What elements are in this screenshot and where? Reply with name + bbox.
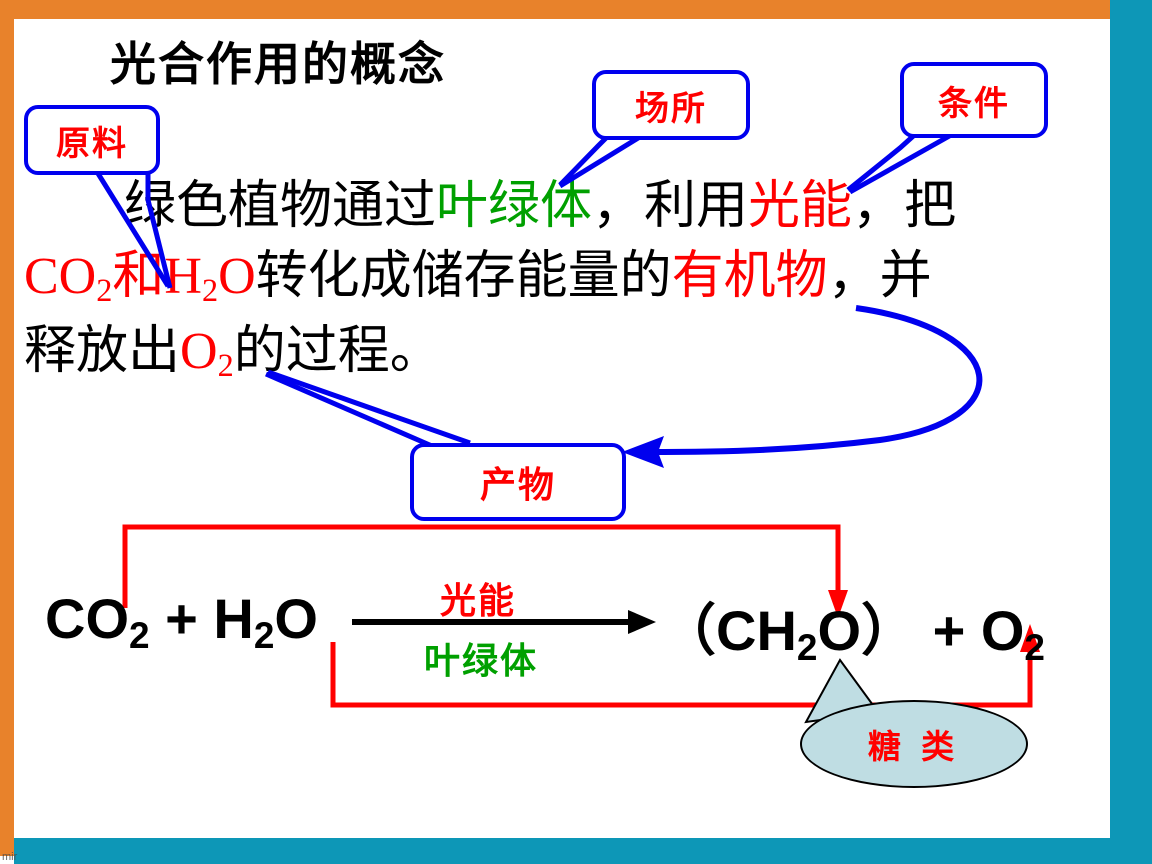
callout-sugars-label: 糖 类 [868,720,960,768]
arrowhead-organic-to-product [622,436,664,468]
para-h2o-red: H2O [164,248,255,305]
para-line1-plain-c: ，把 [852,178,956,235]
frame-border-left [0,0,14,856]
callout-location-label: 场所 [635,81,707,130]
para-co2-red: CO2 [24,248,112,305]
para-line2-he: 和 [112,248,164,305]
equation-ch2o: （CH2O） + O2 [660,599,1045,662]
equation-reactants: CO2 + H2O [45,586,318,651]
para-line2-plain-b: 转化成储存能量的 [256,248,672,305]
callout-raw-material[interactable]: 原料 [24,105,160,175]
equation-h2o: H2O [213,587,318,650]
equation-products: （CH2O） + O2 [660,586,1045,667]
callout-condition[interactable]: 条件 [900,62,1048,138]
para-light-energy-red: 光能 [748,178,852,235]
equation-co2: CO2 [45,587,150,650]
slide-title: 光合作用的概念 [110,28,446,94]
callout-location[interactable]: 场所 [592,70,750,140]
para-o2-red: O2 [180,323,234,380]
para-line3-plain-b: 的过程。 [234,323,442,380]
para-chloroplast-green: 叶绿体 [436,178,592,235]
callout-product-label: 产物 [480,456,556,508]
concept-paragraph: 绿色植物通过叶绿体，利用光能，把CO2和H2O转化成储存能量的有机物，并释放出O… [24,172,1074,392]
para-line1-plain-a: 绿色植物通过 [124,178,436,235]
callout-condition-label: 条件 [938,76,1010,125]
para-line3-plain-a: 释放出 [24,323,180,380]
callout-product[interactable]: 产物 [410,443,626,521]
reaction-arrow-head [628,610,656,634]
slide-canvas: mir 光合作用的概念 绿色植物通过叶绿体，利用光能，把CO2和H2O转化成储存… [0,0,1152,864]
para-line1-plain-b: ，利用 [592,178,748,235]
watermark-text: mir [2,851,17,863]
callout-sugars[interactable]: 糖 类 [800,700,1028,788]
frame-border-right [1110,0,1152,864]
frame-border-top [0,0,1110,19]
para-organic-red: 有机物 [672,248,828,305]
equation-plus: + [150,587,214,650]
callout-raw-material-label: 原料 [56,116,128,165]
equation-arrow-below-label: 叶绿体 [424,632,538,684]
frame-border-bottom [14,838,1152,864]
equation-arrow-above-label: 光能 [440,572,516,624]
para-line2-plain-c: ，并 [828,248,932,305]
